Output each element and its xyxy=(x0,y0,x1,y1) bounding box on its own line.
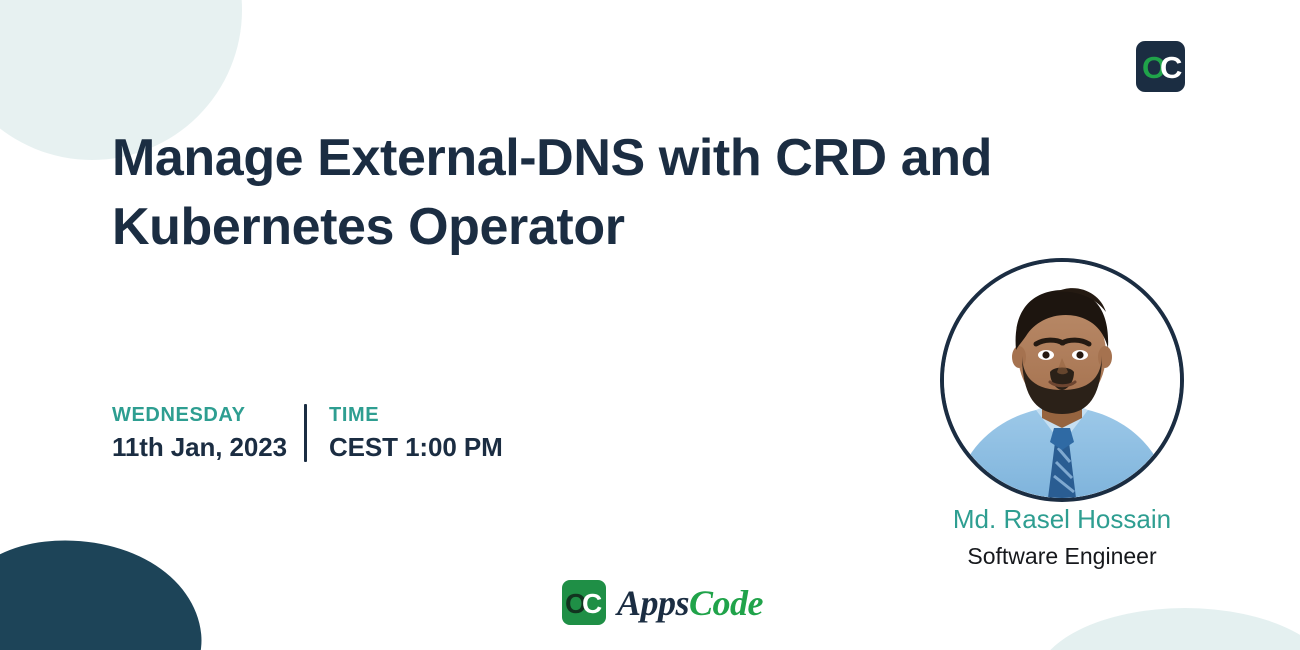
decorative-ellipse-bottom-right xyxy=(1035,608,1300,650)
speaker-name: Md. Rasel Hossain xyxy=(862,503,1262,535)
schedule-time-value: CEST 1:00 PM xyxy=(329,428,503,466)
schedule-date-label: WEDNESDAY xyxy=(112,402,292,428)
wordmark-code: Code xyxy=(689,583,763,623)
webinar-title: Manage External-DNS with CRD and Kuberne… xyxy=(112,124,1182,262)
svg-text:C: C xyxy=(1160,50,1182,85)
webinar-banner: O C Manage External-DNS with CRD and Kub… xyxy=(0,0,1300,650)
appscode-logo-icon: O C xyxy=(562,580,606,625)
wordmark-apps: Apps xyxy=(617,583,689,623)
decorative-blob-bottom-left xyxy=(0,526,209,650)
schedule-date-value: 11th Jan, 2023 xyxy=(112,428,292,466)
speaker-portrait-photo xyxy=(940,258,1184,502)
appscode-wordmark: AppsCode xyxy=(617,583,763,623)
schedule-time-label: TIME xyxy=(329,402,503,428)
svg-text:C: C xyxy=(582,588,602,619)
appscode-logo-icon: O C xyxy=(1136,41,1185,92)
appscode-footer-logo: O C AppsCode xyxy=(562,580,763,625)
schedule-date: WEDNESDAY 11th Jan, 2023 xyxy=(112,402,292,466)
speaker-role: Software Engineer xyxy=(862,541,1262,571)
schedule-block: WEDNESDAY 11th Jan, 2023 TIME CEST 1:00 … xyxy=(112,402,503,466)
schedule-time: TIME CEST 1:00 PM xyxy=(307,402,503,466)
